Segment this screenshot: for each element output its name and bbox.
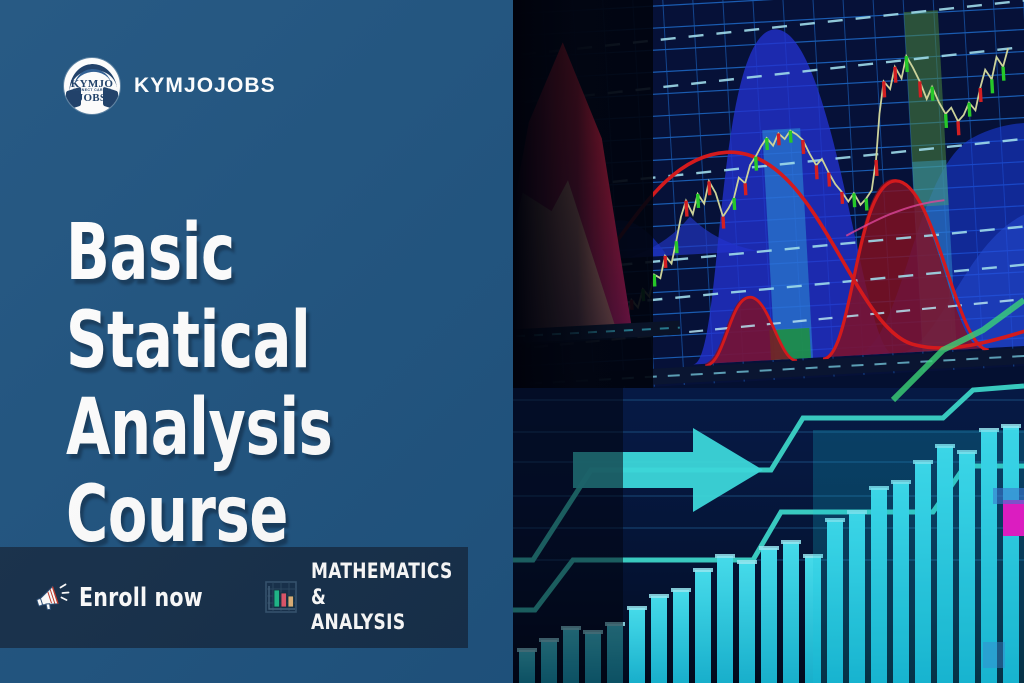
course-category-label: MATHEMATICS & ANALYSIS: [311, 559, 453, 636]
footer-bar: Enroll now: [0, 547, 468, 648]
financial-chart-photo: [513, 0, 1024, 683]
logo-badge-line2: JOBS: [64, 93, 120, 104]
bar-chart-icon: [264, 580, 298, 614]
brand-lockup[interactable]: KYMJO CONNECT CAREER JOBS KYMJOJOBS: [64, 58, 276, 114]
megaphone-icon: [36, 583, 70, 613]
kymjojobs-logo-icon: KYMJO CONNECT CAREER JOBS: [64, 58, 120, 114]
enroll-now-button[interactable]: Enroll now: [36, 583, 220, 613]
brand-wordmark: KYMJOJOBS: [134, 74, 276, 98]
course-category: MATHEMATICS & ANALYSIS: [264, 559, 468, 636]
course-banner: KYMJO CONNECT CAREER JOBS KYMJOJOBS Basi…: [0, 0, 1024, 683]
left-content-panel: KYMJO CONNECT CAREER JOBS KYMJOJOBS Basi…: [0, 0, 513, 683]
enroll-now-label: Enroll now: [79, 583, 203, 613]
page-title: Basic Statical Analysis Course: [66, 210, 419, 559]
